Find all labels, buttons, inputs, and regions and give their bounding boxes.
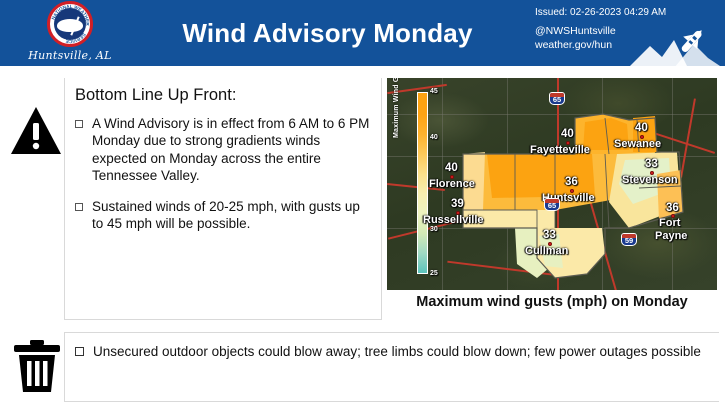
trash-can-icon [12,338,62,394]
bullet-square-icon [75,203,83,211]
nws-logo-icon: NATIONAL WEATHER SERVICE [47,1,93,47]
colorbar-label: Maximum Wind Gusts (mph) [393,78,400,138]
colorbar-tick: 45 [430,88,438,95]
page-title: Wind Advisory Monday [120,18,535,49]
bullet-text: Sustained winds of 20-25 mph, with gusts… [92,198,373,233]
city-name-label: Fort [659,217,680,229]
interstate-shield-icon: 59 [621,233,637,246]
city-gust-value: 40 [561,128,574,140]
city-name-label: Sewanee [614,138,661,150]
map-caption: Maximum wind gusts (mph) on Monday [387,294,717,310]
weather-advisory-graphic: NATIONAL WEATHER SERVICE Huntsville, AL … [0,0,725,408]
city-name-label: Fayetteville [530,144,590,156]
city-gust-value: 33 [645,158,658,170]
office-caption: Huntsville, AL [28,49,112,62]
bullet-text: Unsecured outdoor objects could blow awa… [93,343,701,361]
issued-timestamp: Issued: 02-26-2023 04:29 AM [535,6,717,20]
rocket-mountain-icon [628,26,723,68]
colorbar-gradient [417,92,428,274]
city-name-label: Payne [655,230,687,242]
header-meta-block: Issued: 02-26-2023 04:29 AM @NWSHuntsvil… [535,0,725,66]
colorbar-tick: 40 [430,134,438,141]
city-gust-value: 36 [666,202,679,214]
colorbar-tick: 25 [430,270,438,277]
city-gust-value: 36 [565,176,578,188]
wind-gust-map-figure: Maximum Wind Gusts (mph) 45 40 35 30 25 … [387,78,717,324]
city-name-label: Florence [429,178,475,190]
city-gust-value: 33 [543,229,556,241]
city-gust-value: 40 [635,122,648,134]
colorbar-tick: 30 [430,226,438,233]
city-name-label: Cullman [525,245,568,257]
bullet-list: A Wind Advisory is in effect from 6 AM t… [75,115,373,233]
bullet-text: A Wind Advisory is in effect from 6 AM t… [92,115,373,184]
list-item: A Wind Advisory is in effect from 6 AM t… [75,115,373,184]
list-item: Unsecured outdoor objects could blow awa… [75,343,709,361]
interstate-shield-icon: 65 [549,92,565,105]
bullet-square-icon [75,120,83,128]
bullet-square-icon [75,347,84,356]
interstate-shield-icon: 65 [544,198,560,211]
header-logo-block: NATIONAL WEATHER SERVICE Huntsville, AL [0,0,140,66]
city-gust-value: 40 [445,162,458,174]
bottom-line-panel: Bottom Line Up Front: A Wind Advisory is… [64,78,382,320]
blurb-heading: Bottom Line Up Front: [75,86,373,105]
city-gust-value: 39 [451,198,464,210]
impacts-panel: Unsecured outdoor objects could blow awa… [64,332,719,402]
city-name-label: Russellville [423,214,484,226]
warning-triangle-icon [10,104,62,160]
impacts-section: Unsecured outdoor objects could blow awa… [0,330,725,408]
header-banner: NATIONAL WEATHER SERVICE Huntsville, AL … [0,0,725,66]
city-name-label: Stevenson [622,174,678,186]
wind-gust-map: Maximum Wind Gusts (mph) 45 40 35 30 25 … [387,78,717,290]
list-item: Sustained winds of 20-25 mph, with gusts… [75,198,373,233]
main-content: Bottom Line Up Front: A Wind Advisory is… [0,66,725,328]
